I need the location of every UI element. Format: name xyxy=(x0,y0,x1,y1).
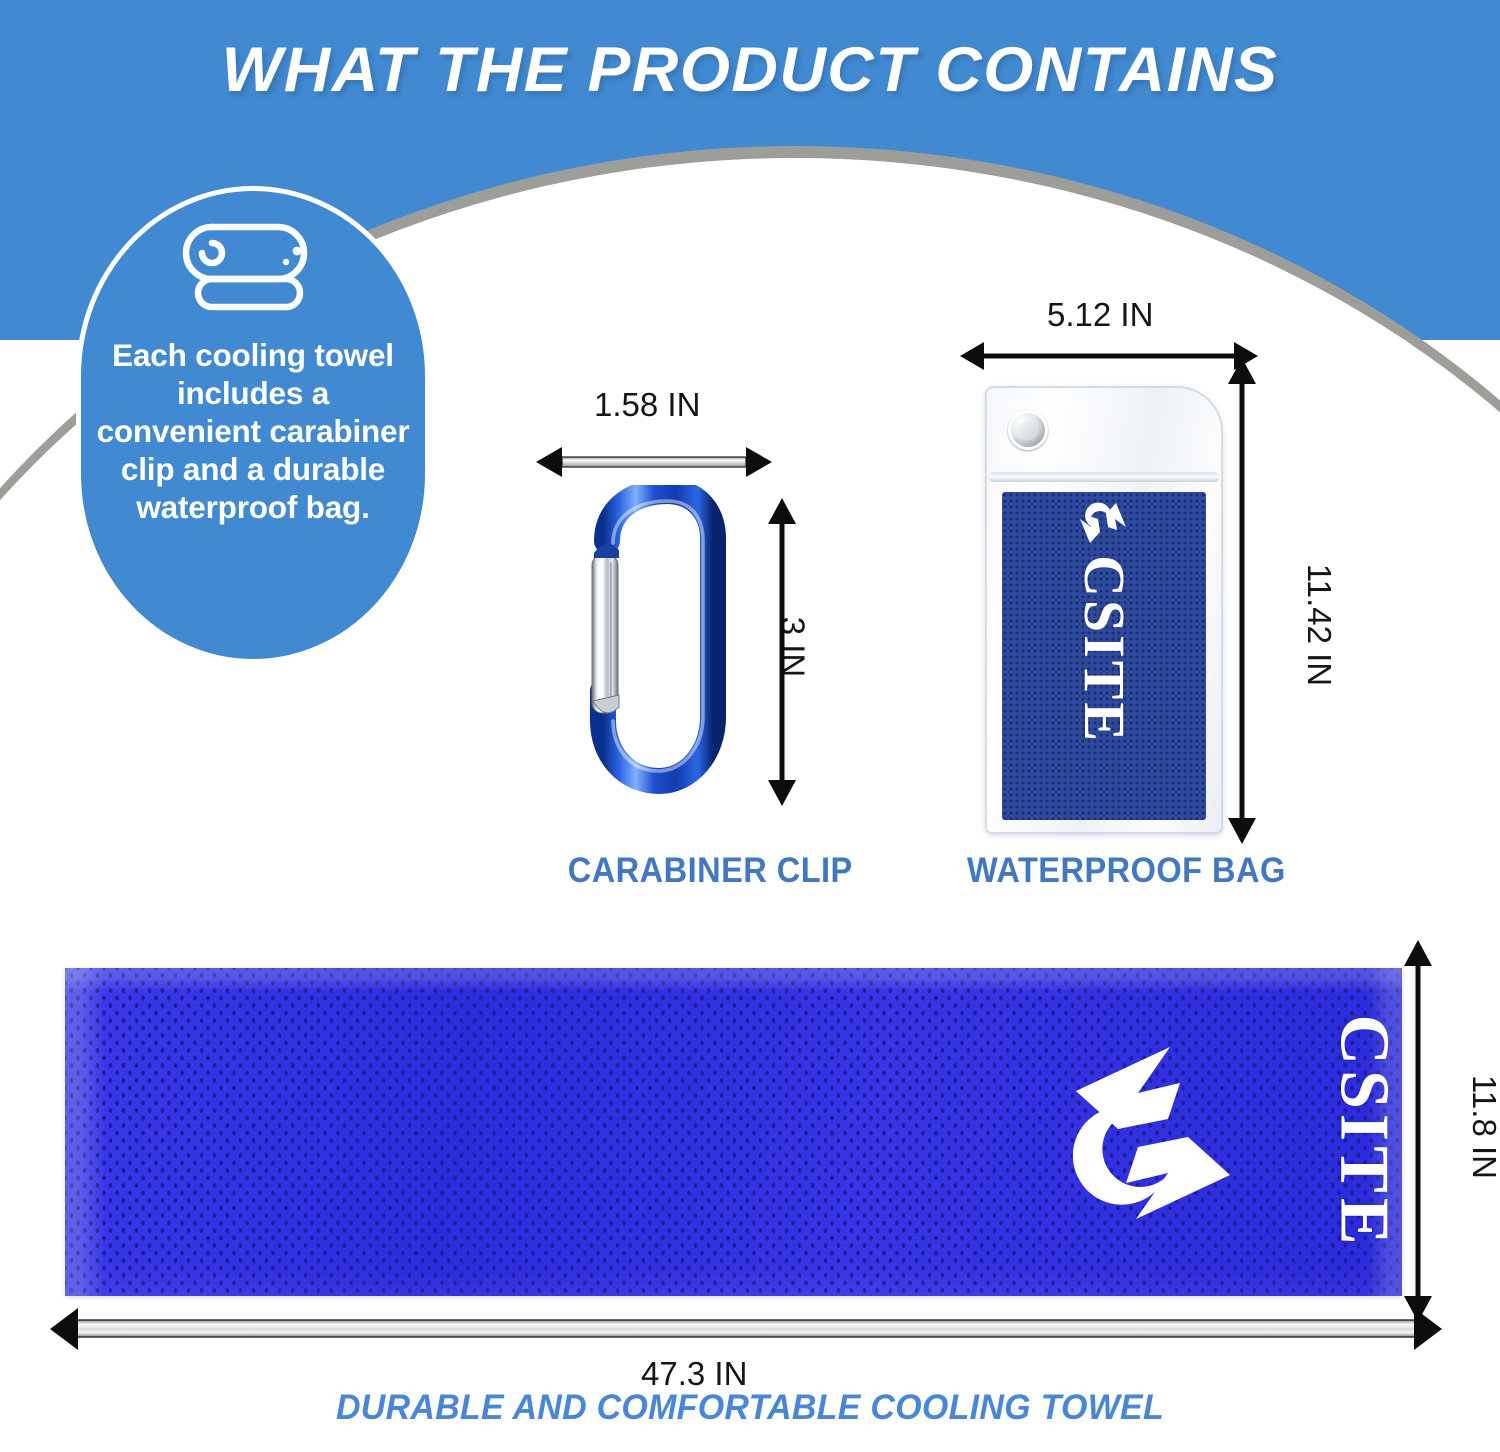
bag-width-label: 5.12 IN xyxy=(1047,296,1153,334)
waterproof-bag-image: CSITE COOLING TOWEL QUICK CHILL xyxy=(985,386,1223,834)
carabiner-height-arrow xyxy=(760,498,804,806)
carabiner-clip-image xyxy=(567,485,742,805)
towel-brand-text: CSITE xyxy=(1324,1014,1402,1249)
towel-height-label: 11.8 IN xyxy=(1465,1075,1500,1179)
footer-caption: DURABLE AND COMFORTABLE COOLING TOWEL xyxy=(23,1388,1478,1428)
towel-brand-lockup: CSITE xyxy=(1050,997,1380,1267)
infographic-canvas: WHAT THE PRODUCT CONTAINS Each cooling t… xyxy=(0,0,1500,1452)
bag-height-label: 11.42 IN xyxy=(1300,564,1338,686)
bag-brand-text: CSITE xyxy=(1075,555,1133,744)
carabiner-width-arrow xyxy=(536,443,772,483)
badge-text: Each cooling towel includes a convenient… xyxy=(93,337,413,527)
bag-inner-towel: CSITE COOLING TOWEL QUICK CHILL xyxy=(1002,492,1206,820)
info-badge: Each cooling towel includes a convenient… xyxy=(76,186,430,664)
csite-logo-icon xyxy=(1058,1037,1248,1227)
csite-logo-icon xyxy=(1078,497,1130,549)
towel-width-arrow xyxy=(50,1308,1442,1350)
bag-width-arrow xyxy=(960,336,1258,376)
carabiner-clip-label: CARABINER CLIP xyxy=(568,851,853,891)
bag-zip-seal xyxy=(989,472,1219,482)
page-title: WHAT THE PRODUCT CONTAINS xyxy=(0,34,1500,106)
bag-grommet-icon xyxy=(1008,410,1048,450)
rolled-towel-icon xyxy=(178,219,328,315)
cooling-towel-image: CSITE xyxy=(65,968,1402,1296)
bag-brand-lockup: CSITE xyxy=(1075,497,1133,815)
bag-height-arrow xyxy=(1220,358,1264,844)
towel-height-arrow xyxy=(1396,940,1440,1322)
waterproof-bag-label: WATERPROOF BAG xyxy=(967,851,1286,891)
carabiner-width-label: 1.58 IN xyxy=(594,386,700,424)
